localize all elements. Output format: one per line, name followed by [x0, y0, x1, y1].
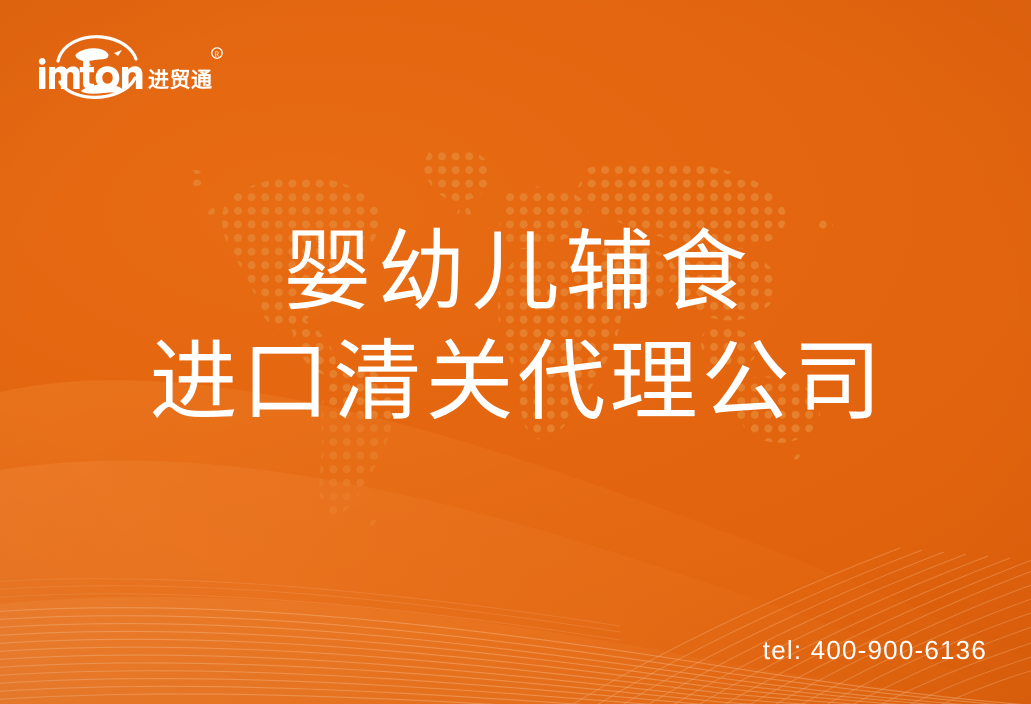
svg-text:R: R — [215, 51, 220, 59]
telephone-label: tel: 400-900-6136 — [763, 635, 987, 666]
poster-canvas: 进贸通 R 婴幼儿辅食 进口清关代理公司 tel: 400-900-6136 — [0, 0, 1031, 704]
headline-line-2: 进口清关代理公司 — [0, 338, 1031, 426]
logo-chinese-text: 进贸通 — [148, 69, 213, 92]
headline-line-1: 婴幼儿辅食 — [0, 228, 1031, 316]
brand-logo[interactable]: 进贸通 R — [36, 31, 226, 101]
headline-block: 婴幼儿辅食 进口清关代理公司 — [0, 228, 1031, 426]
registered-mark-icon: R — [212, 48, 222, 59]
